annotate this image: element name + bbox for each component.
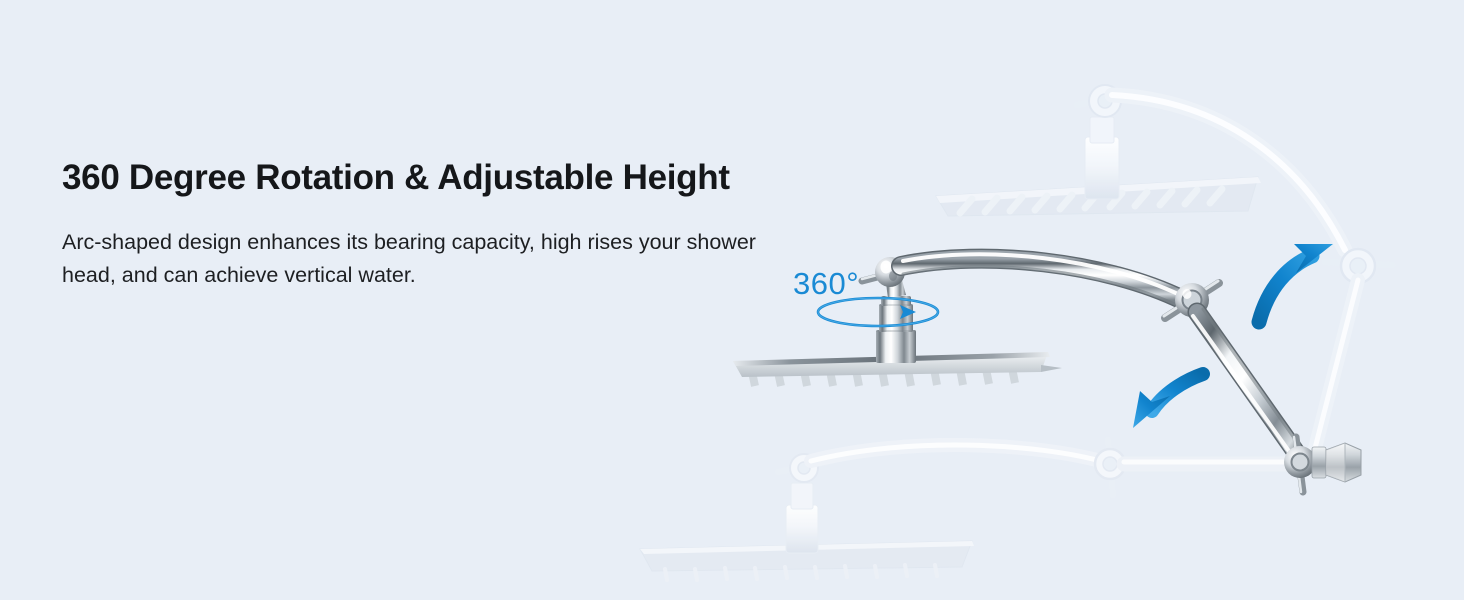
arc-shower-arm [901,254,1183,307]
arrow-spin-360 [818,298,938,326]
infographic-root: 360° 360 Degree Rotation & Adjustable He… [0,0,1464,600]
arrow-rotate-down [1133,374,1203,428]
arrow-rotate-up [1259,244,1333,322]
ghost-arc-arm-raised [1112,95,1345,250]
rotation-degree-label: 360° [793,268,859,299]
ghost-arm-lowered [640,440,1295,580]
page-title: 360 Degree Rotation & Adjustable Height [62,155,742,200]
shower-arm-illustration [0,0,1464,600]
copy-block: 360 Degree Rotation & Adjustable Height … [62,155,762,292]
riser-stem [876,296,916,363]
ghost-riser-lowered [786,483,818,553]
lower-arm-segment [1193,309,1306,461]
page-subcopy: Arc-shaped design enhances its bearing c… [62,226,762,292]
ghost-riser-raised [1085,117,1119,199]
